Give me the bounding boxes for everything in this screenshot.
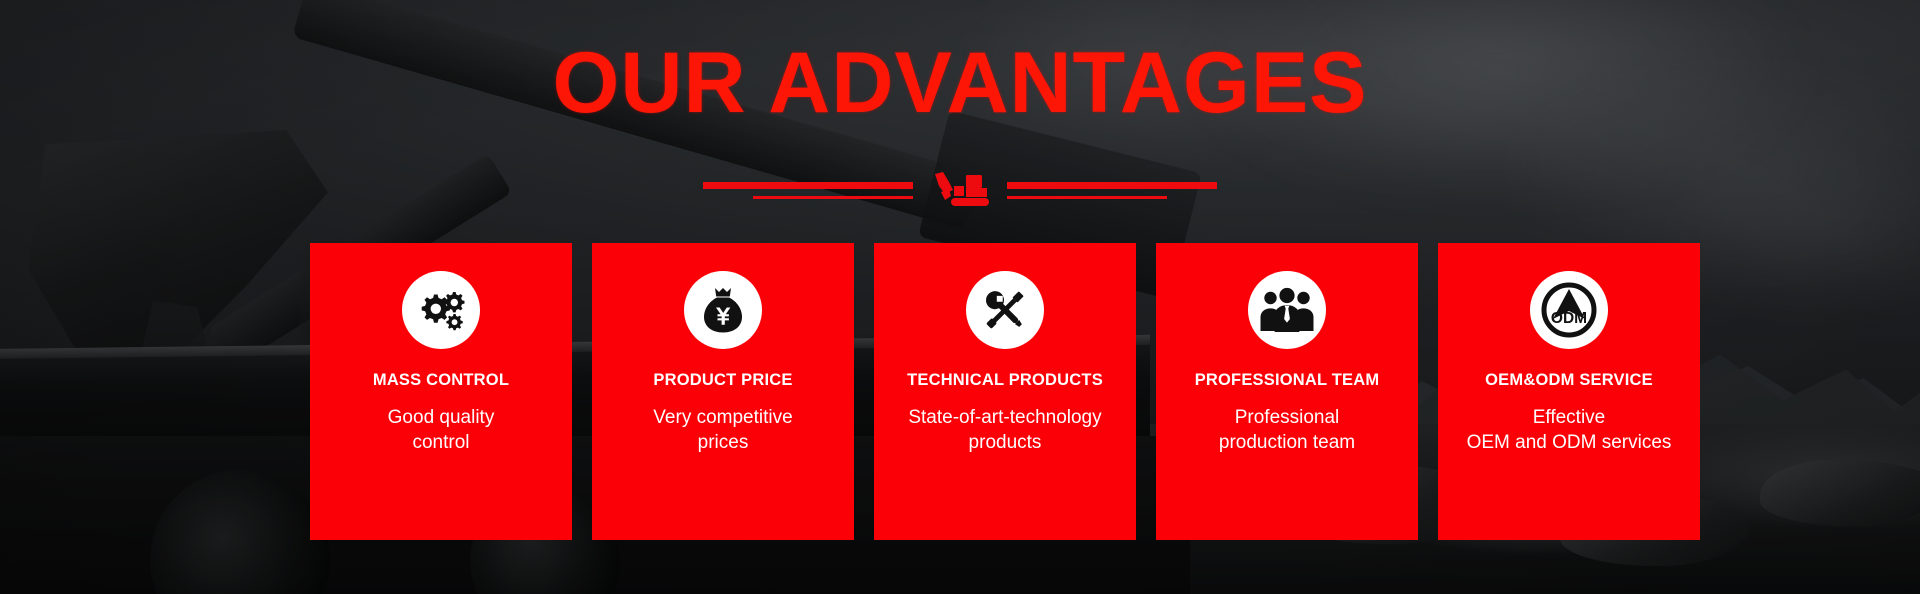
gears-icon	[402, 271, 480, 349]
card-description: Effective OEM and ODM services	[1459, 405, 1680, 455]
card-desc-line: production team	[1219, 430, 1355, 455]
card-description: Good quality control	[380, 405, 503, 455]
card-description: Very competitive prices	[645, 405, 800, 455]
divider-bar-thin	[1007, 196, 1167, 199]
divider-bar-thick	[703, 182, 913, 189]
divider-left-lines	[703, 182, 913, 199]
card-desc-line: control	[388, 430, 495, 455]
card-desc-line: State-of-art-technology	[908, 405, 1101, 430]
page-title: OUR ADVANTAGES	[0, 40, 1920, 126]
money-bag-yen-icon	[684, 271, 762, 349]
advantage-cards: MASS CONTROL Good quality control PRODUC…	[310, 243, 1700, 540]
odm-badge-text: ODM	[1551, 310, 1587, 327]
team-people-icon	[1248, 271, 1326, 349]
card-desc-line: products	[908, 430, 1101, 455]
card-desc-line: OEM and ODM services	[1467, 430, 1672, 455]
odm-badge-icon: ODM	[1530, 271, 1608, 349]
advantage-card-professional-team[interactable]: PROFESSIONAL TEAM Professional productio…	[1156, 243, 1418, 540]
card-title: MASS CONTROL	[373, 371, 509, 391]
section-divider	[0, 170, 1920, 210]
card-desc-line: prices	[653, 430, 792, 455]
card-title: PRODUCT PRICE	[653, 371, 792, 391]
excavator-icon	[929, 170, 991, 210]
advantage-card-product-price[interactable]: PRODUCT PRICE Very competitive prices	[592, 243, 854, 540]
wrench-screwdriver-icon	[966, 271, 1044, 349]
card-desc-line: Effective	[1467, 405, 1672, 430]
card-desc-line: Very competitive	[653, 405, 792, 430]
card-desc-line: Good quality	[388, 405, 495, 430]
card-title: PROFESSIONAL TEAM	[1195, 371, 1380, 391]
card-desc-line: Professional	[1219, 405, 1355, 430]
card-description: State-of-art-technology products	[900, 405, 1109, 455]
card-title: TECHNICAL PRODUCTS	[907, 371, 1103, 391]
advantage-card-oem-odm-service[interactable]: ODM OEM&ODM SERVICE Effective OEM and OD…	[1438, 243, 1700, 540]
card-description: Professional production team	[1211, 405, 1363, 455]
card-title: OEM&ODM SERVICE	[1485, 371, 1653, 391]
divider-bar-thin	[753, 196, 913, 199]
advantage-card-technical-products[interactable]: TECHNICAL PRODUCTS State-of-art-technolo…	[874, 243, 1136, 540]
advantage-card-mass-control[interactable]: MASS CONTROL Good quality control	[310, 243, 572, 540]
divider-bar-thick	[1007, 182, 1217, 189]
divider-right-lines	[1007, 182, 1217, 199]
